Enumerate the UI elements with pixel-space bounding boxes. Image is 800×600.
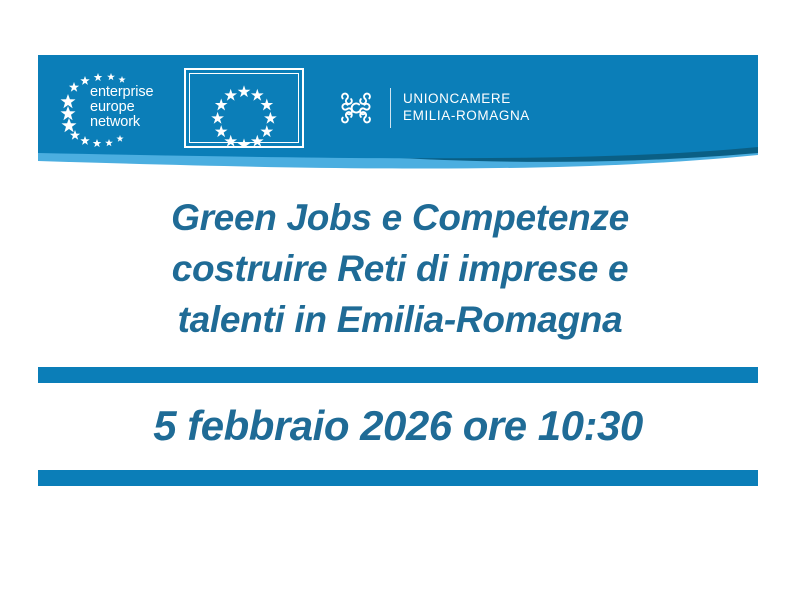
een-line-2: europe xyxy=(90,99,135,115)
een-line-1: enterprise xyxy=(90,84,153,100)
unioncamere-logo: UNIONCAMERE EMILIA-ROMAGNA xyxy=(334,81,530,135)
page-title-line-2: costruire Reti di imprese e xyxy=(60,243,740,294)
unioncamere-line-2: EMILIA-ROMAGNA xyxy=(403,108,530,123)
eu-flag-stars xyxy=(186,70,302,146)
page-title-line-1: Green Jobs e Competenze xyxy=(60,192,740,243)
unioncamere-wordmark: UNIONCAMERE EMILIA-ROMAGNA xyxy=(403,91,530,124)
page-title-line-3: talenti in Emilia-Romagna xyxy=(60,294,740,345)
divider-rule-bottom xyxy=(38,470,758,486)
unioncamere-swirl-mark-icon xyxy=(334,86,378,130)
unioncamere-divider xyxy=(390,88,391,128)
een-wordmark: enterprise europe network xyxy=(90,85,153,131)
european-union-flag-icon xyxy=(184,68,304,148)
header-logo-row: enterprise europe network xyxy=(38,55,758,160)
een-line-3: network xyxy=(90,114,140,130)
unioncamere-line-1: UNIONCAMERE xyxy=(403,91,511,106)
event-date-text: 5 febbraio 2026 ore 10:30 xyxy=(38,398,758,454)
unioncamere-swirl-shape xyxy=(334,86,378,130)
enterprise-europe-network-logo: enterprise europe network xyxy=(58,68,170,148)
divider-rule-top xyxy=(38,367,758,383)
page-title: Green Jobs e Competenze costruire Reti d… xyxy=(60,192,740,345)
